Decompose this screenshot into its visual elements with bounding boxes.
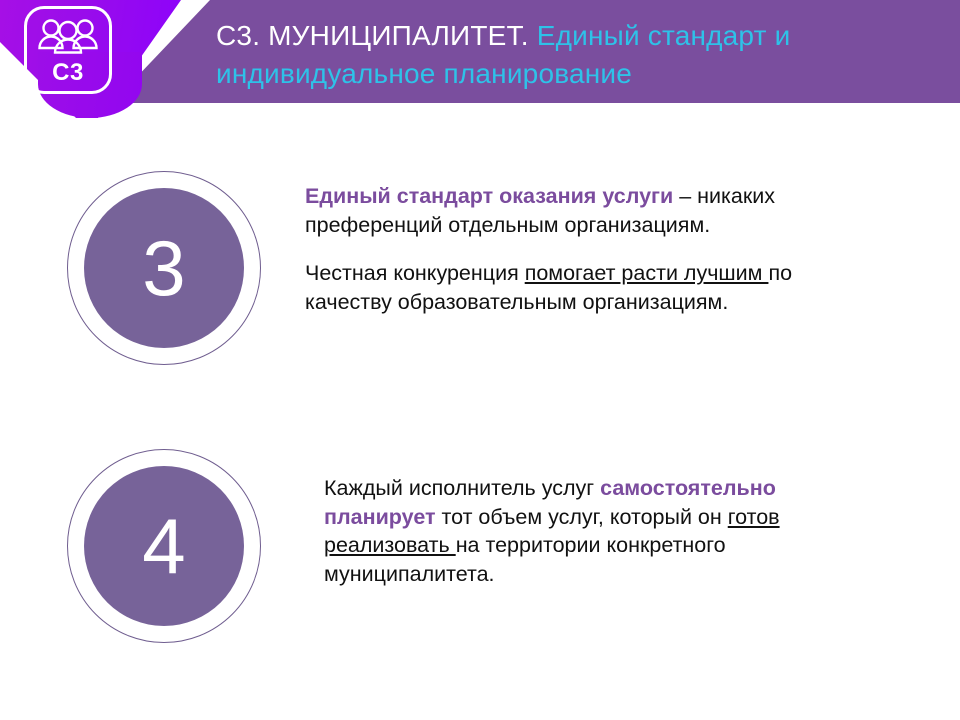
paragraph-4-1-pre: Каждый исполнитель услуг [324,476,600,500]
number-badge-label: 3 [142,229,185,307]
paragraph-4-1-mid: тот объем услуг, который он [436,505,728,529]
three-people-icon [36,17,100,59]
content-block-4: 4 Каждый исполнитель услуг самостоятельн… [0,446,869,646]
paragraph-3-2: Честная конкуренция помогает расти лучши… [305,259,825,316]
slide: С3 С3. МУНИЦИПАЛИТЕТ. Единый стандарт и … [0,0,960,720]
content-text-3: Единый стандарт оказания услуги – никаки… [305,182,825,316]
content-block-3: 3 Единый стандарт оказания услуги – ника… [0,168,825,368]
paragraph-3-2-underlined: помогает расти лучшим [525,261,769,285]
page-title-primary: С3. МУНИЦИПАЛИТЕТ. [216,20,529,51]
paragraph-3-2-pre: Честная конкуренция [305,261,525,285]
number-badge-fill: 4 [84,466,244,626]
paragraph-3-1: Единый стандарт оказания услуги – никаки… [305,182,825,239]
logo-label: С3 [27,61,109,85]
number-badge-label: 4 [142,507,185,585]
number-badge-4: 4 [64,446,264,646]
slide-header: С3 С3. МУНИЦИПАЛИТЕТ. Единый стандарт и … [0,0,960,103]
paragraph-3-1-lead: Единый стандарт оказания услуги [305,184,673,208]
number-badge-3: 3 [64,168,264,368]
content-text-4: Каждый исполнитель услуг самостоятельно … [324,474,869,588]
paragraph-4-1: Каждый исполнитель услуг самостоятельно … [324,474,869,588]
logo-tile: С3 [24,6,112,94]
page-title: С3. МУНИЦИПАЛИТЕТ. Единый стандарт и инд… [216,17,944,93]
number-badge-fill: 3 [84,188,244,348]
